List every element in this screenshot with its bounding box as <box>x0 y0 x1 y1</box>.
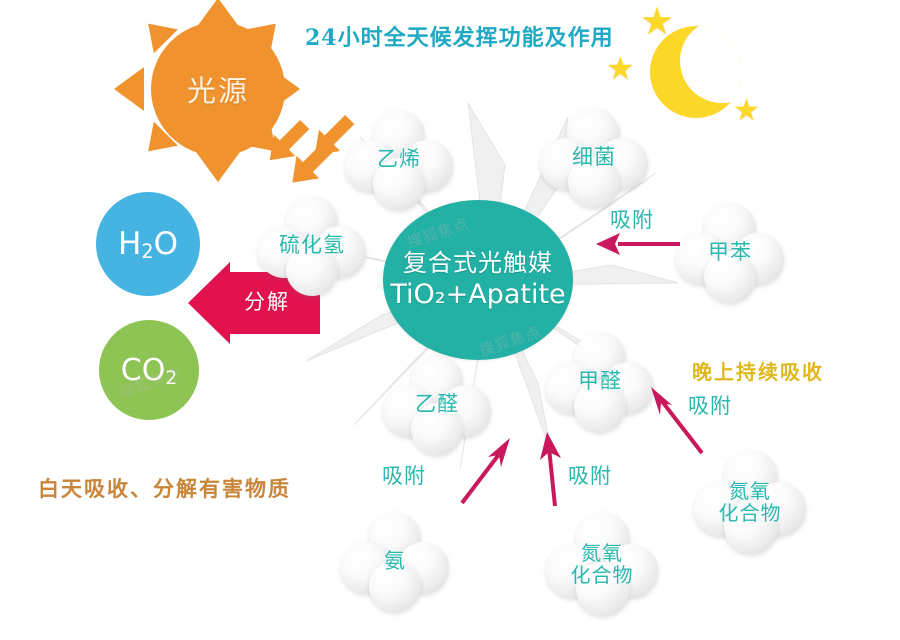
adsorb-arrow-toluene <box>596 232 682 260</box>
molecule-nitrogen-oxides-bottom: 氮氧 化合物 <box>546 512 658 616</box>
star-icon-1: ★ <box>640 2 674 40</box>
core-title-cn: 复合式光触媒 <box>403 250 553 278</box>
molecule-hydrogen-sulfide: 硫化氢 <box>258 196 366 296</box>
product-water: H2O <box>96 192 200 296</box>
product-co2-label: CO2 <box>121 353 177 388</box>
star-icon-2: ★ <box>606 52 635 84</box>
molecule-ethylene: 乙烯 <box>345 110 453 210</box>
molecule-ammonia: 氨 <box>341 512 449 612</box>
decompose-label: 分解 <box>227 286 307 316</box>
molecule-formaldehyde: 甲醛 <box>546 332 654 432</box>
molecule-toluene: 甲苯 <box>676 203 784 303</box>
photocatalyst-core: 复合式光触媒 TiO₂+Apatite <box>383 200 573 360</box>
sun-disc: 光源 <box>151 22 285 156</box>
core-title-en: TiO₂+Apatite <box>390 279 565 310</box>
molecule-bacteria: 细菌 <box>540 108 648 208</box>
molecule-nitrogen-oxides-right: 氮氧 化合物 <box>694 450 806 554</box>
sun-ray-west <box>114 67 144 111</box>
nighttime-caption: 晚上持续吸收 <box>692 356 824 385</box>
product-carbon-dioxide: CO2 <box>99 320 199 420</box>
sun-label: 光源 <box>187 68 249 110</box>
adsorb-arrow-acetaldehyde <box>456 435 514 511</box>
daytime-caption: 白天吸收、分解有害物质 <box>38 473 291 503</box>
adsorb-label-toluene: 吸附 <box>610 204 654 234</box>
diagram-canvas: 光源 ★ ★ ★ 24小时全天候发 <box>0 0 900 640</box>
sun-ray-south <box>196 152 240 182</box>
adsorb-label-nox-bottom: 吸附 <box>568 460 612 490</box>
adsorb-label-formaldehyde: 吸附 <box>688 390 732 420</box>
adsorb-arrow-nox-right <box>652 396 654 415</box>
product-water-label: H2O <box>118 226 178 262</box>
adsorb-label-acetaldehyde: 吸附 <box>382 460 426 490</box>
star-icon-3: ★ <box>733 96 760 126</box>
page-title: 24小时全天候发挥功能及作用 <box>305 20 614 52</box>
